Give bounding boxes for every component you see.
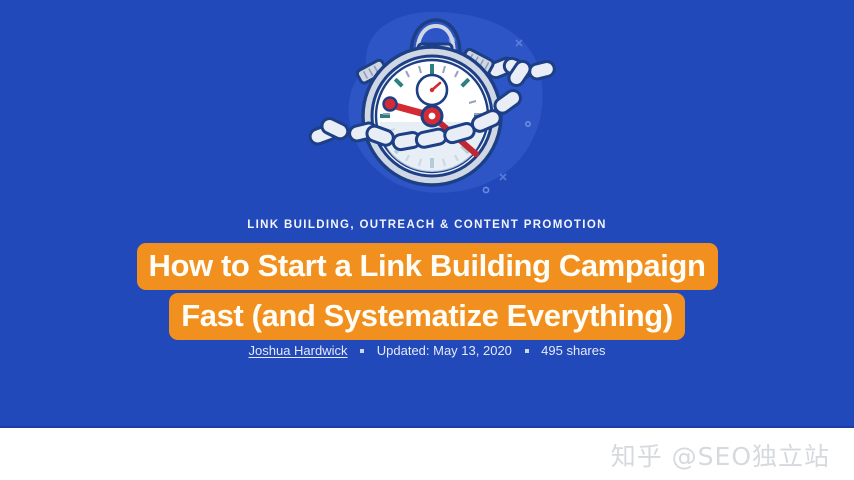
page-root: LINK BUILDING, OUTREACH & CONTENT PROMOT…: [0, 0, 854, 480]
stopwatch-chain-illustration: [300, 4, 560, 210]
article-byline: Joshua Hardwick Updated: May 13, 2020 49…: [0, 343, 854, 358]
author-link[interactable]: Joshua Hardwick: [249, 343, 348, 358]
page-title: How to Start a Link Building Campaign Fa…: [0, 243, 854, 340]
zhihu-watermark: 知乎 @SEO独立站: [611, 437, 830, 473]
hero-bottom-edge: [0, 426, 854, 428]
page-title-line-2: Fast (and Systematize Everything): [0, 293, 854, 340]
share-count: 495 shares: [541, 343, 605, 358]
article-hero-banner: LINK BUILDING, OUTREACH & CONTENT PROMOT…: [0, 0, 854, 428]
page-title-line-2-text: Fast (and Systematize Everything): [169, 293, 685, 340]
page-title-line-1: How to Start a Link Building Campaign: [0, 243, 854, 290]
article-category-kicker: LINK BUILDING, OUTREACH & CONTENT PROMOT…: [0, 219, 854, 231]
updated-date: Updated: May 13, 2020: [377, 343, 512, 358]
byline-separator-icon: [525, 349, 529, 353]
stopwatch-subdial: [417, 75, 447, 105]
page-title-line-1-text: How to Start a Link Building Campaign: [137, 243, 718, 290]
byline-separator-icon: [360, 349, 364, 353]
